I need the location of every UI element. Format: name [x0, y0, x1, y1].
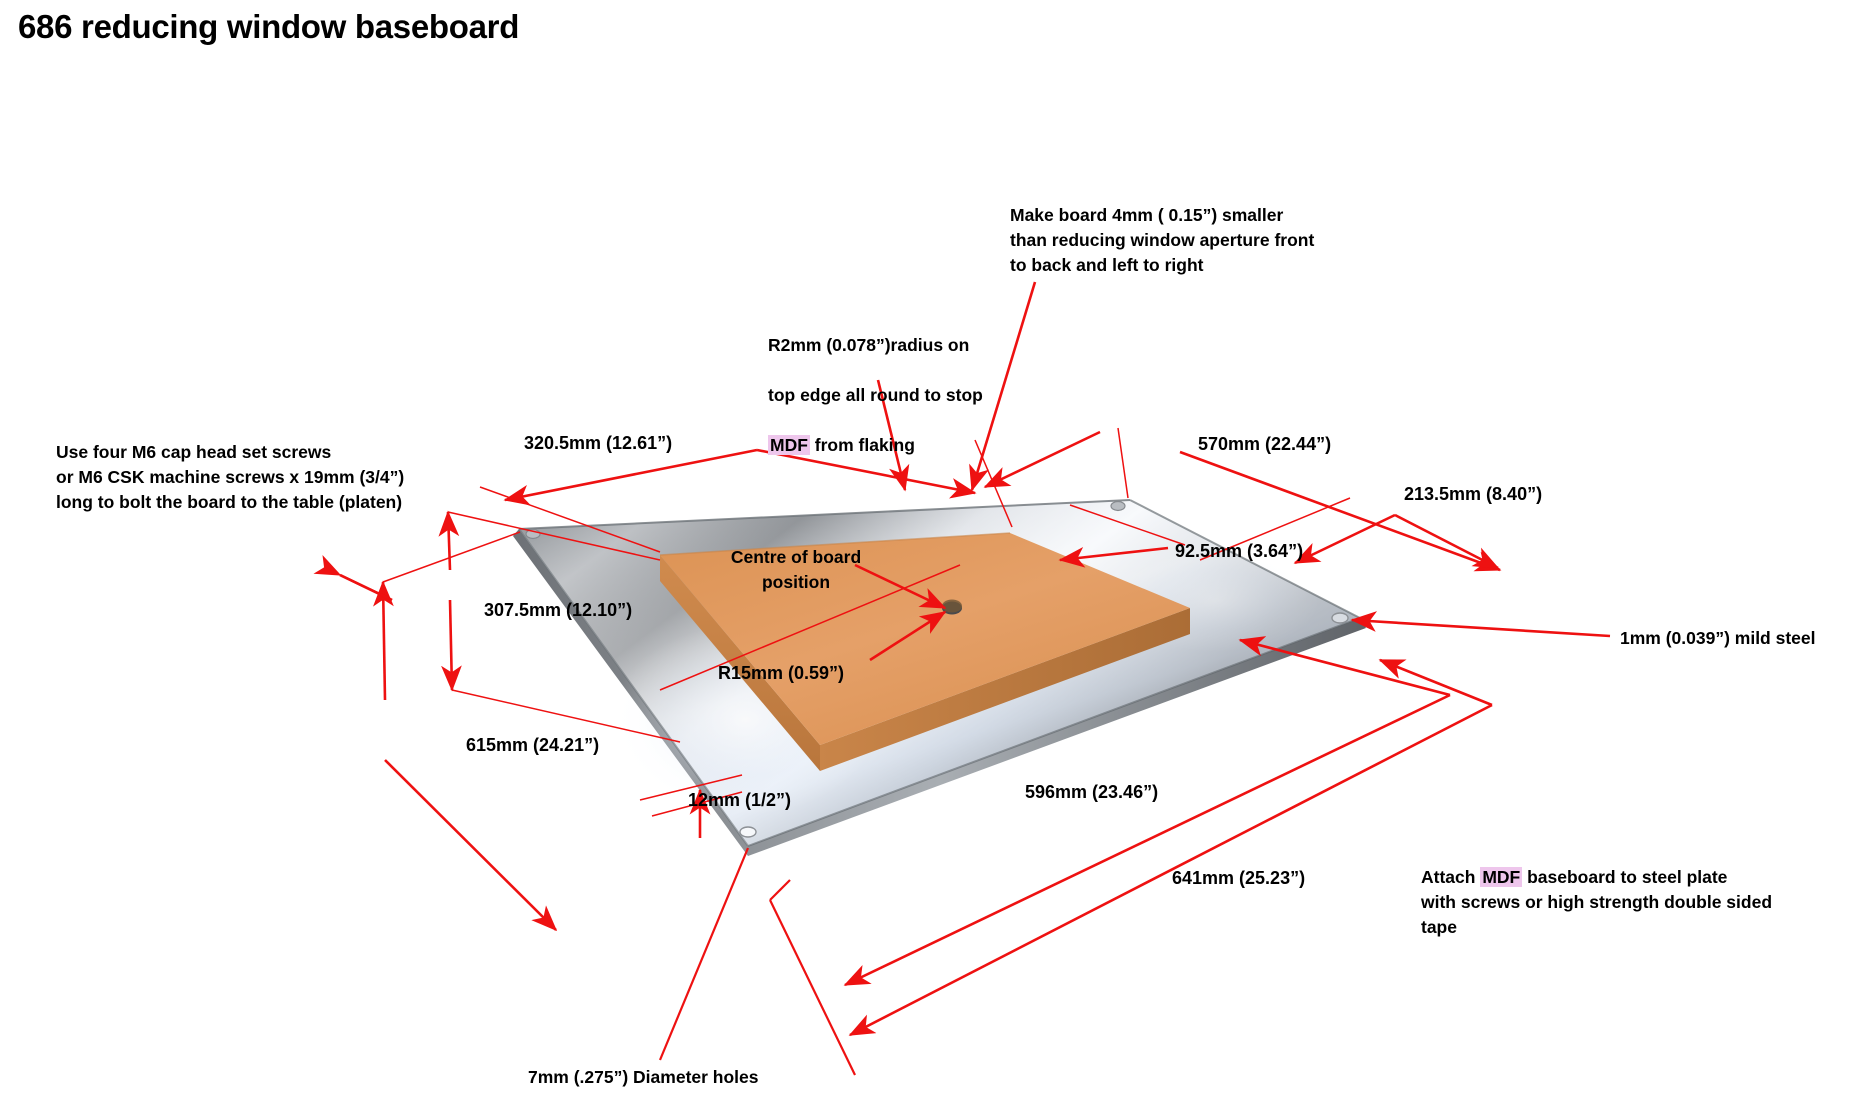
mounting-hole-front	[740, 827, 756, 837]
dim-board-offset-right: 92.5mm (3.64”)	[1175, 541, 1303, 562]
mounting-hole-left	[526, 530, 540, 539]
page-title: 686 reducing window baseboard	[18, 8, 519, 46]
dim-hole-inset: R15mm (0.59”)	[718, 663, 844, 684]
dim-board-depth-left: 307.5mm (12.10”)	[484, 600, 632, 621]
dim-plate-depth-left: 615mm (24.21”)	[466, 735, 599, 756]
dim-plate-width-top: 570mm (22.44”)	[1198, 434, 1331, 455]
note-radius-line1: R2mm (0.078”)radius on	[768, 335, 969, 355]
note-aperture: Make board 4mm ( 0.15”) smaller than red…	[1010, 203, 1314, 278]
dim-hole-centres-long: 596mm (23.46”)	[1025, 782, 1158, 803]
dim-plate-edge-right: 213.5mm (8.40”)	[1404, 484, 1542, 505]
dim-board-width-top: 320.5mm (12.61”)	[524, 433, 672, 454]
note-radius-mdf-highlight: MDF	[768, 435, 810, 455]
note-screws: Use four M6 cap head set screws or M6 CS…	[56, 440, 404, 515]
note-attach-mdf-highlight: MDF	[1480, 867, 1522, 887]
diagram-canvas: 686 reducing window baseboard	[0, 0, 1876, 1105]
dim-board-thickness: 12mm (1/2”)	[688, 790, 791, 811]
note-centre-of-board: Centre of board position	[706, 545, 886, 595]
centre-hole	[942, 602, 962, 615]
note-radius-line3: from flaking	[810, 435, 915, 455]
note-mild-steel: 1mm (0.039”) mild steel	[1620, 626, 1816, 651]
note-attach-mdf: Attach MDF baseboard to steel plate with…	[1421, 840, 1772, 940]
dim-plate-length-bottom: 641mm (25.23”)	[1172, 868, 1305, 889]
note-radius-line2: top edge all round to stop	[768, 385, 983, 405]
note-holes: 7mm (.275”) Diameter holes	[528, 1065, 759, 1090]
note-radius: R2mm (0.078”)radius on top edge all roun…	[768, 308, 983, 458]
note-attach-pre: Attach	[1421, 867, 1480, 887]
mounting-hole-right	[1332, 613, 1348, 623]
mounting-hole-back	[1111, 502, 1125, 511]
